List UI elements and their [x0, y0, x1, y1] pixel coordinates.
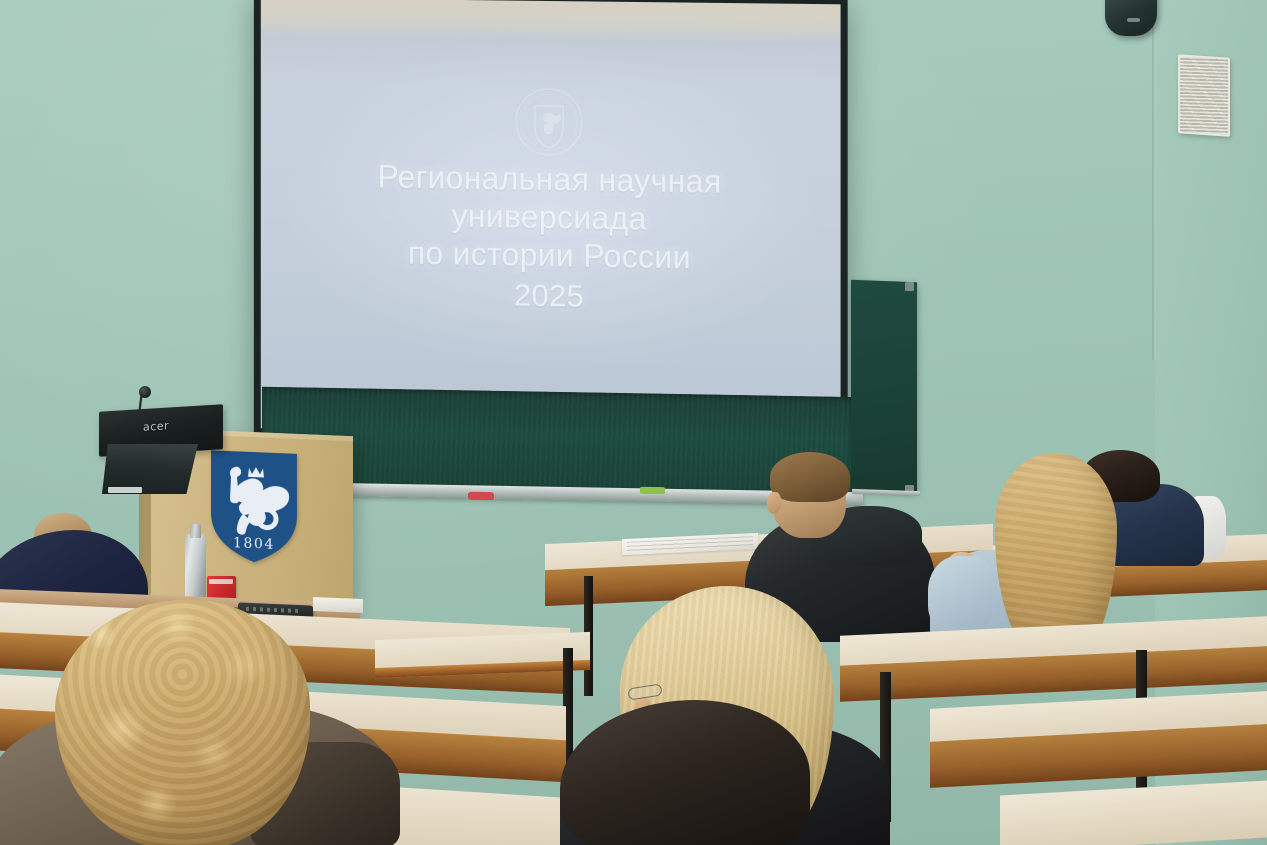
- laptop-foot: [108, 487, 142, 493]
- wall-ventilation-grille-icon: [1178, 54, 1230, 137]
- svg-text:· · · · · · ·: · · · · · · ·: [542, 93, 556, 97]
- student-boy-hoodie-hair: [770, 452, 850, 502]
- projector-hotspot: [261, 0, 841, 44]
- svg-text:· · · · · ·: · · · · · ·: [543, 149, 555, 153]
- chalkboard-side-panel: [851, 280, 917, 494]
- red-chalk-icon: [468, 492, 494, 500]
- student-curly-blonde-hair: [55, 600, 310, 845]
- university-seal-icon: · · · · · · · · · · · · ·: [513, 86, 585, 167]
- small-paper-sheet: [313, 597, 363, 613]
- paper-text-lines: [627, 536, 753, 552]
- chalkboard-clip-top: [905, 282, 914, 291]
- bottle-cap: [190, 524, 201, 538]
- steel-water-bottle-icon: [185, 534, 206, 604]
- student-blue-hoodie-arm: [928, 556, 992, 632]
- wall-corner-edge: [1152, 0, 1156, 360]
- slide-text-block: Региональная научная универсиада по исто…: [261, 157, 841, 320]
- student-boy-hoodie-ear: [767, 492, 781, 514]
- projection-screen: · · · · · · · · · · · · · Региональная н…: [254, 0, 848, 452]
- ceiling-speaker-icon: [1105, 0, 1157, 36]
- svg-text:1804: 1804: [233, 535, 275, 553]
- projection-surface: · · · · · · · · · · · · · Региональная н…: [261, 0, 841, 440]
- laptop-brand-label: acer: [143, 419, 169, 434]
- microphone-icon: [139, 386, 151, 398]
- slide-line-3: по истории России: [261, 232, 841, 279]
- green-chalk-icon: [640, 487, 665, 494]
- lecture-hall-photo: · · · · · · · · · · · · · Региональная н…: [0, 0, 1267, 845]
- university-coat-of-arms-icon: 1804: [205, 446, 303, 568]
